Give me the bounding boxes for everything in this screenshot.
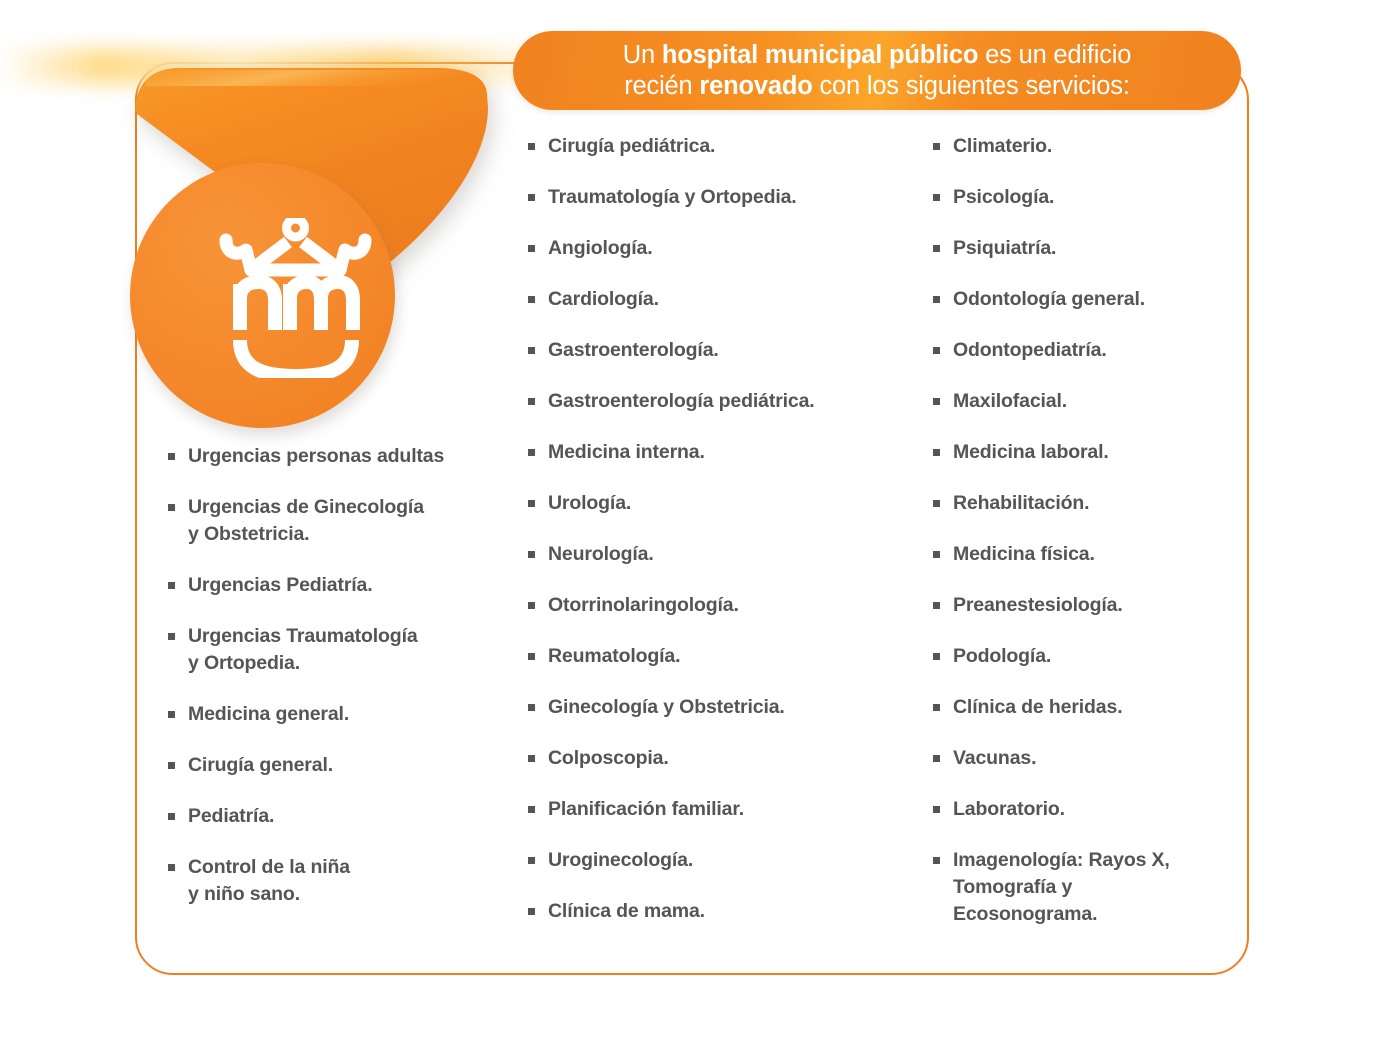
list-item-label: Psiquiatría. bbox=[953, 235, 1056, 262]
list-item-label: Reumatología. bbox=[548, 643, 680, 670]
list-item: Gastroenterología pediátrica. bbox=[528, 388, 923, 415]
list-item-label: Medicina interna. bbox=[548, 439, 705, 466]
square-bullet-icon bbox=[528, 500, 535, 507]
square-bullet-icon bbox=[168, 504, 175, 511]
square-bullet-icon bbox=[528, 296, 535, 303]
list-item: Colposcopia. bbox=[528, 745, 923, 772]
list-item: Vacunas. bbox=[933, 745, 1243, 772]
list-item: Rehabilitación. bbox=[933, 490, 1243, 517]
square-bullet-icon bbox=[933, 194, 940, 201]
list-item-label: Medicina física. bbox=[953, 541, 1095, 568]
list-item-label: Imagenología: Rayos X, Tomografía y Ecos… bbox=[953, 847, 1170, 928]
list-item: Urología. bbox=[528, 490, 923, 517]
square-bullet-icon bbox=[528, 551, 535, 558]
square-bullet-icon bbox=[528, 704, 535, 711]
list-item-label: Otorrinolaringología. bbox=[548, 592, 739, 619]
list-item-label: Cardiología. bbox=[548, 286, 659, 313]
square-bullet-icon bbox=[933, 806, 940, 813]
list-item-label: Medicina laboral. bbox=[953, 439, 1109, 466]
square-bullet-icon bbox=[528, 449, 535, 456]
square-bullet-icon bbox=[933, 143, 940, 150]
list-item-label: Psicología. bbox=[953, 184, 1054, 211]
list-item-label: Colposcopia. bbox=[548, 745, 669, 772]
list-item-label: Preanestesiología. bbox=[953, 592, 1123, 619]
list-item: Psiquiatría. bbox=[933, 235, 1243, 262]
list-item: Ginecología y Obstetricia. bbox=[528, 694, 923, 721]
square-bullet-icon bbox=[528, 194, 535, 201]
square-bullet-icon bbox=[528, 653, 535, 660]
especialidades-column-2: Climaterio.Psicología.Psiquiatría.Odonto… bbox=[933, 133, 1243, 952]
list-item-label: Podología. bbox=[953, 643, 1051, 670]
list-item: Uroginecología. bbox=[528, 847, 923, 874]
list-item: Odontología general. bbox=[933, 286, 1243, 313]
list-item: Psicología. bbox=[933, 184, 1243, 211]
list-item-label: Control de la niña y niño sano. bbox=[188, 854, 350, 908]
list-item-label: Odontopediatría. bbox=[953, 337, 1107, 364]
list-item: Urgencias de Ginecología y Obstetricia. bbox=[168, 494, 518, 548]
square-bullet-icon bbox=[168, 453, 175, 460]
list-item-label: Planificación familiar. bbox=[548, 796, 744, 823]
square-bullet-icon bbox=[933, 755, 940, 762]
list-item: Medicina física. bbox=[933, 541, 1243, 568]
square-bullet-icon bbox=[933, 551, 940, 558]
list-item-label: Clínica de heridas. bbox=[953, 694, 1122, 721]
square-bullet-icon bbox=[933, 653, 940, 660]
header-line2-bold: renovado bbox=[699, 72, 812, 100]
list-item-label: Laboratorio. bbox=[953, 796, 1065, 823]
list-item: Preanestesiología. bbox=[933, 592, 1243, 619]
square-bullet-icon bbox=[168, 711, 175, 718]
list-item: Gastroenterología. bbox=[528, 337, 923, 364]
list-item-label: Urgencias Pediatría. bbox=[188, 572, 373, 599]
header-title: Un hospital municipal público es un edif… bbox=[605, 40, 1149, 102]
header-line1-bold: hospital municipal público bbox=[662, 41, 978, 69]
list-item-label: Cirugía pediátrica. bbox=[548, 133, 715, 160]
list-item-label: Maxilofacial. bbox=[953, 388, 1067, 415]
list-item-label: Rehabilitación. bbox=[953, 490, 1089, 517]
list-item: Cardiología. bbox=[528, 286, 923, 313]
header-line2-post: con los siguientes servicios: bbox=[813, 72, 1130, 100]
list-item: Medicina interna. bbox=[528, 439, 923, 466]
list-item: Reumatología. bbox=[528, 643, 923, 670]
list-item: Maxilofacial. bbox=[933, 388, 1243, 415]
list-item-label: Clínica de mama. bbox=[548, 898, 705, 925]
square-bullet-icon bbox=[933, 602, 940, 609]
urgencias-column: Urgencias personas adultasUrgencias de G… bbox=[168, 443, 518, 932]
list-item-label: Urgencias personas adultas bbox=[188, 443, 444, 470]
list-item: Otorrinolaringología. bbox=[528, 592, 923, 619]
list-item-label: Vacunas. bbox=[953, 745, 1036, 772]
list-item: Urgencias personas adultas bbox=[168, 443, 518, 470]
square-bullet-icon bbox=[528, 806, 535, 813]
list-item: Traumatología y Ortopedia. bbox=[528, 184, 923, 211]
list-item: Control de la niña y niño sano. bbox=[168, 854, 518, 908]
square-bullet-icon bbox=[168, 582, 175, 589]
list-item-label: Urgencias de Ginecología y Obstetricia. bbox=[188, 494, 424, 548]
square-bullet-icon bbox=[933, 296, 940, 303]
list-item: Medicina general. bbox=[168, 701, 518, 728]
list-item-label: Ginecología y Obstetricia. bbox=[548, 694, 785, 721]
square-bullet-icon bbox=[528, 398, 535, 405]
list-item: Medicina laboral. bbox=[933, 439, 1243, 466]
square-bullet-icon bbox=[933, 449, 940, 456]
square-bullet-icon bbox=[168, 762, 175, 769]
list-item-label: Cirugía general. bbox=[188, 752, 333, 779]
square-bullet-icon bbox=[933, 500, 940, 507]
square-bullet-icon bbox=[168, 864, 175, 871]
especialidades-column-1: Cirugía pediátrica.Traumatología y Ortop… bbox=[528, 133, 923, 949]
list-item-label: Medicina general. bbox=[188, 701, 349, 728]
list-item: Angiología. bbox=[528, 235, 923, 262]
infographic-root: Un hospital municipal público es un edif… bbox=[0, 0, 1376, 1047]
list-item-label: Gastroenterología pediátrica. bbox=[548, 388, 815, 415]
list-item: Planificación familiar. bbox=[528, 796, 923, 823]
square-bullet-icon bbox=[168, 813, 175, 820]
list-item: Climaterio. bbox=[933, 133, 1243, 160]
list-item-label: Pediatría. bbox=[188, 803, 274, 830]
list-item: Urgencias Traumatología y Ortopedia. bbox=[168, 623, 518, 677]
square-bullet-icon bbox=[933, 398, 940, 405]
square-bullet-icon bbox=[933, 347, 940, 354]
list-item-label: Traumatología y Ortopedia. bbox=[548, 184, 797, 211]
list-item-label: Urología. bbox=[548, 490, 631, 517]
list-item: Neurología. bbox=[528, 541, 923, 568]
square-bullet-icon bbox=[528, 143, 535, 150]
header-line1-pre: Un bbox=[623, 41, 662, 69]
header-line2-pre: recién bbox=[624, 72, 699, 100]
square-bullet-icon bbox=[933, 857, 940, 864]
list-item: Urgencias Pediatría. bbox=[168, 572, 518, 599]
list-item-label: Uroginecología. bbox=[548, 847, 693, 874]
list-item: Cirugía pediátrica. bbox=[528, 133, 923, 160]
square-bullet-icon bbox=[528, 857, 535, 864]
list-item: Pediatría. bbox=[168, 803, 518, 830]
list-item: Odontopediatría. bbox=[933, 337, 1243, 364]
list-item-label: Angiología. bbox=[548, 235, 653, 262]
list-item-label: Neurología. bbox=[548, 541, 654, 568]
list-item: Laboratorio. bbox=[933, 796, 1243, 823]
list-item-label: Odontología general. bbox=[953, 286, 1145, 313]
square-bullet-icon bbox=[528, 602, 535, 609]
list-item: Podología. bbox=[933, 643, 1243, 670]
square-bullet-icon bbox=[933, 704, 940, 711]
list-item: Clínica de heridas. bbox=[933, 694, 1243, 721]
square-bullet-icon bbox=[528, 347, 535, 354]
square-bullet-icon bbox=[528, 908, 535, 915]
square-bullet-icon bbox=[933, 245, 940, 252]
square-bullet-icon bbox=[528, 245, 535, 252]
list-item-label: Urgencias Traumatología y Ortopedia. bbox=[188, 623, 418, 677]
square-bullet-icon bbox=[168, 633, 175, 640]
list-item-label: Climaterio. bbox=[953, 133, 1052, 160]
header-banner: Un hospital municipal público es un edif… bbox=[513, 31, 1241, 110]
list-item: Imagenología: Rayos X, Tomografía y Ecos… bbox=[933, 847, 1243, 928]
header-line1-post: es un edificio bbox=[978, 41, 1131, 69]
list-item-label: Gastroenterología. bbox=[548, 337, 719, 364]
square-bullet-icon bbox=[528, 755, 535, 762]
list-item: Cirugía general. bbox=[168, 752, 518, 779]
list-item: Clínica de mama. bbox=[528, 898, 923, 925]
